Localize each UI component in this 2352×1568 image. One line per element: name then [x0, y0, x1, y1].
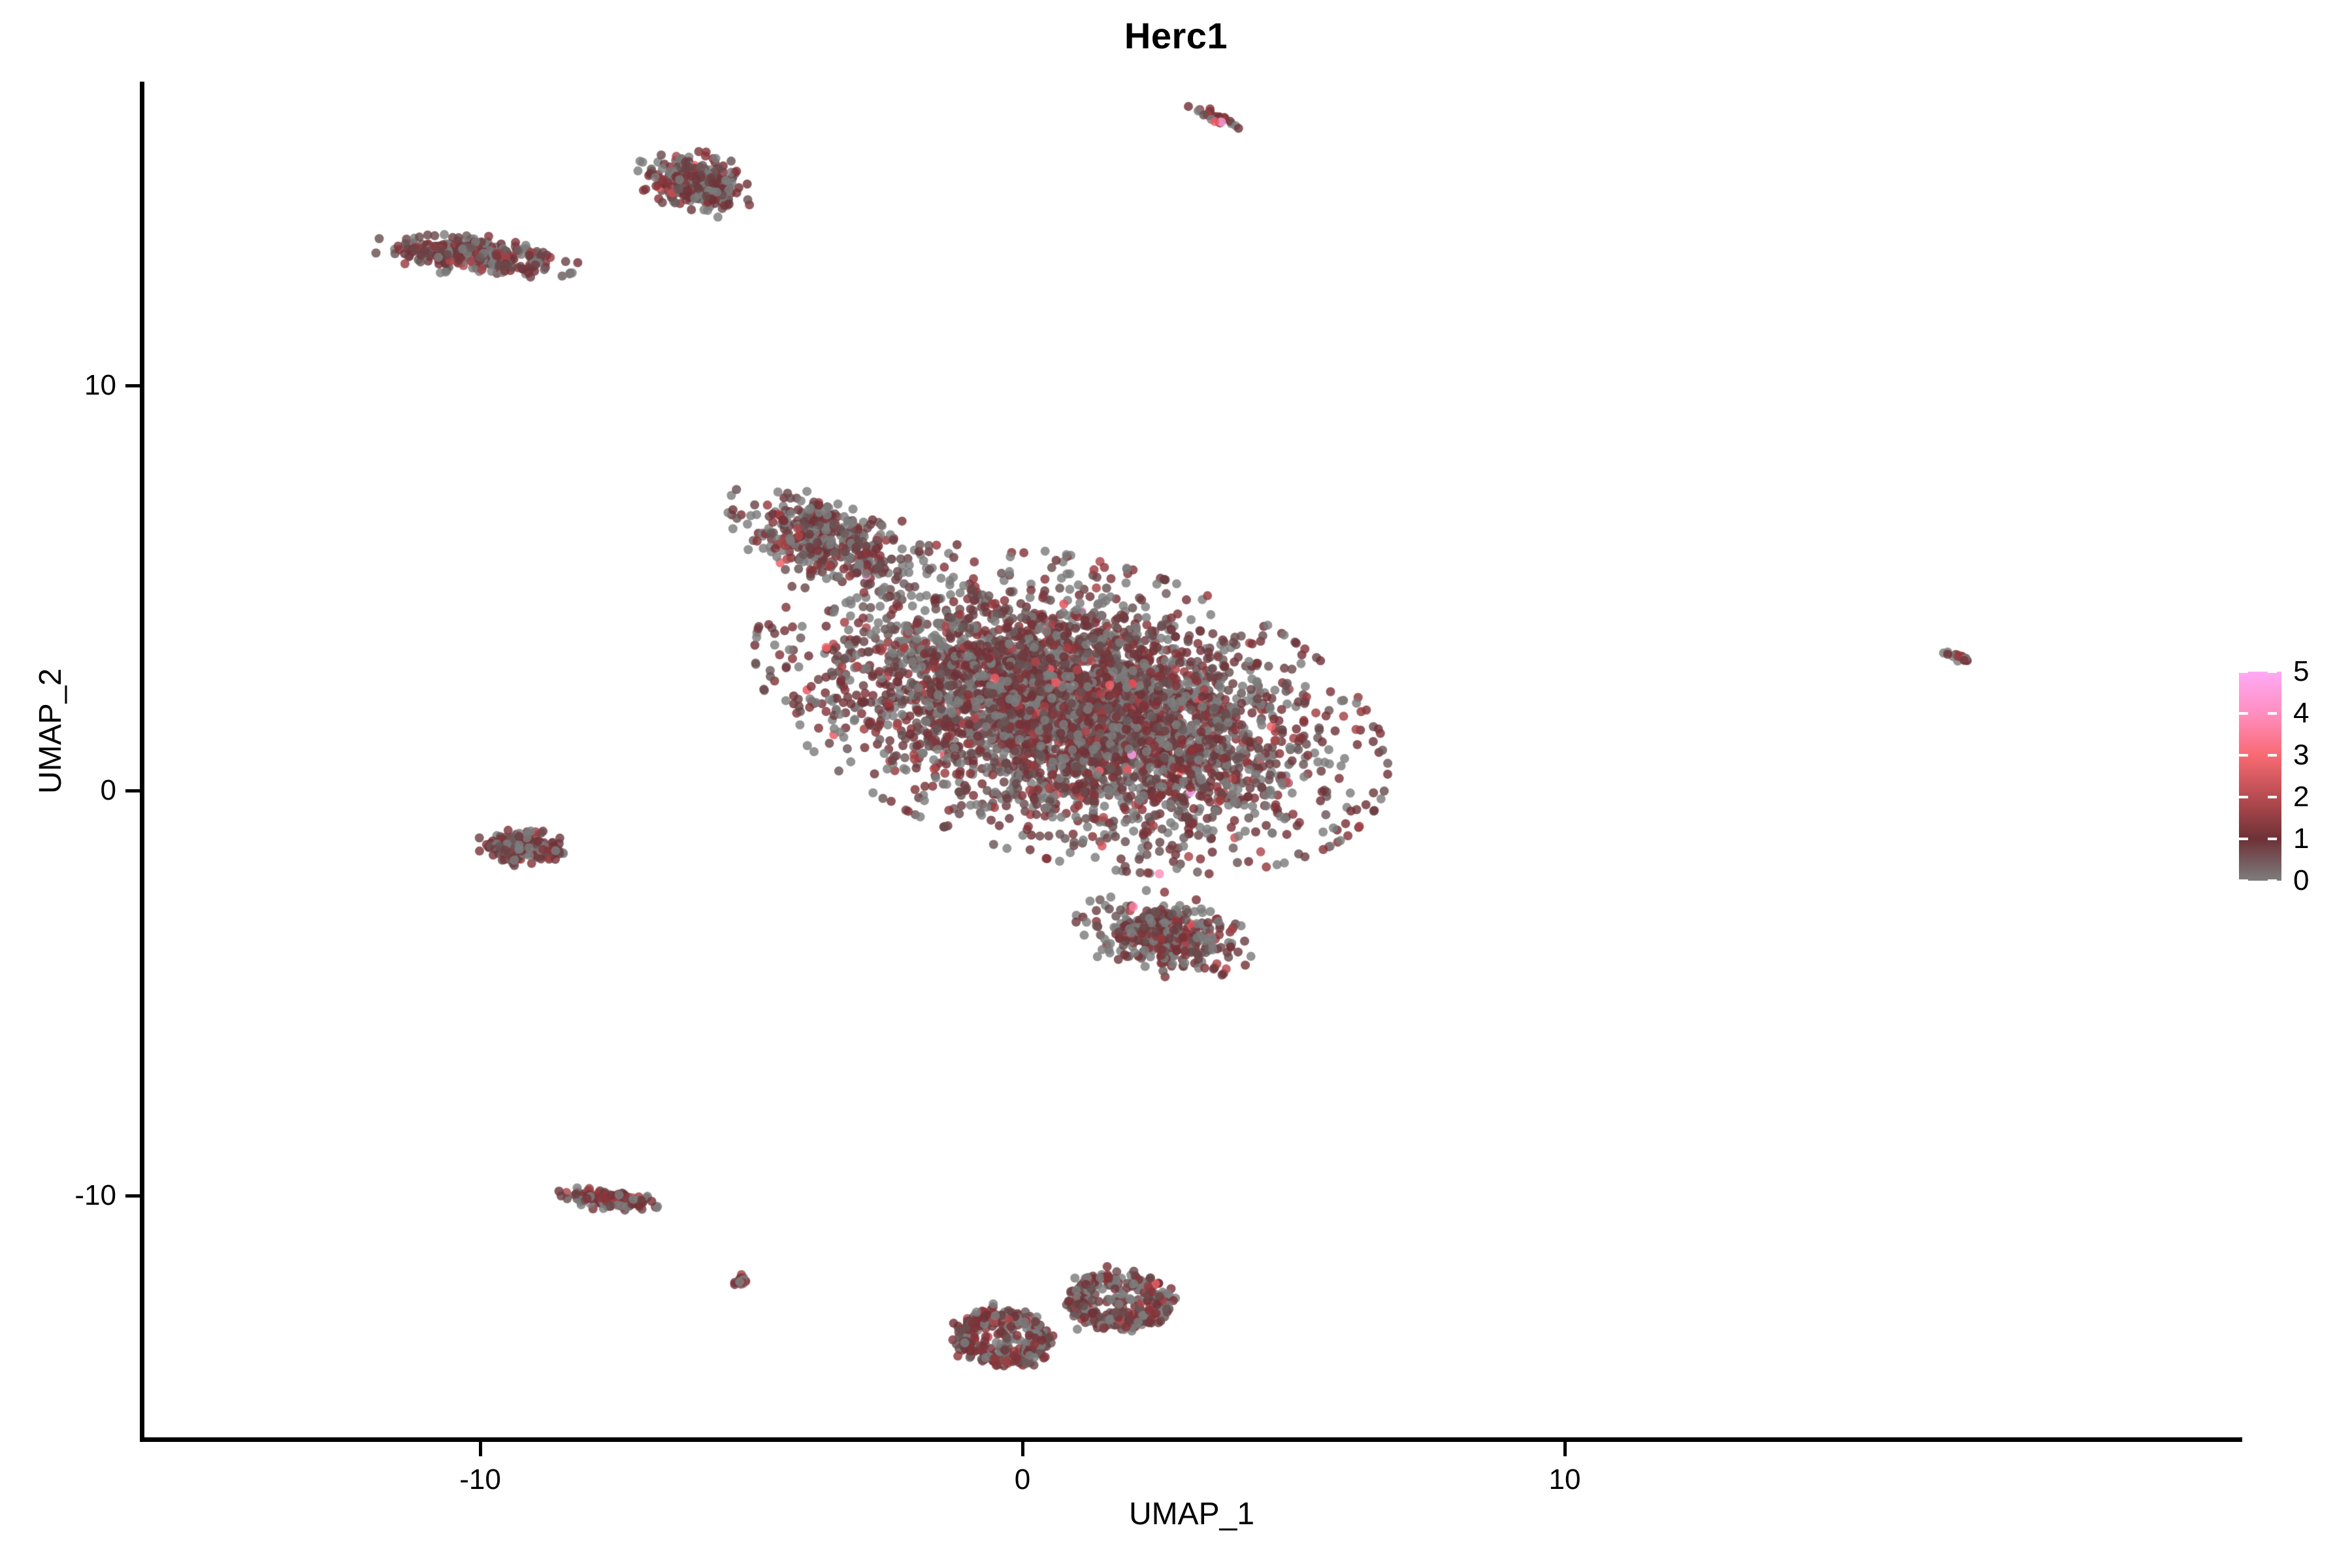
colorbar-tick-mark	[2268, 838, 2277, 840]
colorbar-tick-mark	[2239, 754, 2248, 757]
colorbar-tick-mark	[2239, 712, 2248, 715]
x-tick-mark	[479, 1442, 482, 1456]
y-axis-title: UMAP_2	[33, 728, 69, 794]
scatter-plot-canvas	[142, 82, 2241, 1441]
colorbar-label: 1	[2293, 823, 2309, 855]
y-tick-label: 10	[12, 369, 116, 402]
color-legend: 543210	[2234, 660, 2345, 895]
colorbar-tick-mark	[2239, 796, 2248, 798]
colorbar-tick-mark	[2239, 670, 2248, 673]
x-tick-mark	[1563, 1442, 1567, 1456]
colorbar-label: 3	[2293, 739, 2309, 772]
y-tick-label: -10	[12, 1179, 116, 1212]
y-tick-mark	[125, 384, 140, 387]
colorbar-label: 5	[2293, 655, 2309, 688]
y-tick-mark	[125, 789, 140, 792]
colorbar-tick-mark	[2268, 754, 2277, 757]
umap-feature-plot: Herc1 100-10 -10010 UMAP_1 UMAP_2 543210	[0, 0, 2352, 1568]
colorbar-tick-mark	[2268, 670, 2277, 673]
x-tick-label: 10	[1493, 1463, 1637, 1496]
x-axis-line	[140, 1437, 2242, 1442]
x-tick-label: 0	[951, 1463, 1094, 1496]
x-tick-label: -10	[408, 1463, 552, 1496]
page-title: Herc1	[0, 14, 2352, 57]
colorbar-label: 0	[2293, 864, 2309, 897]
colorbar-label: 2	[2293, 781, 2309, 813]
x-tick-mark	[1021, 1442, 1024, 1456]
colorbar-gradient	[2239, 672, 2281, 881]
colorbar-tick-mark	[2268, 712, 2277, 715]
colorbar-tick-mark	[2239, 838, 2248, 840]
colorbar-tick-mark	[2268, 879, 2277, 882]
plot-panel	[142, 82, 2241, 1441]
y-axis-line	[140, 82, 144, 1442]
y-tick-mark	[125, 1194, 140, 1198]
x-axis-title: UMAP_1	[142, 1496, 2241, 1532]
colorbar-tick-mark	[2268, 796, 2277, 798]
colorbar-tick-mark	[2239, 879, 2248, 882]
colorbar-label: 4	[2293, 697, 2309, 730]
